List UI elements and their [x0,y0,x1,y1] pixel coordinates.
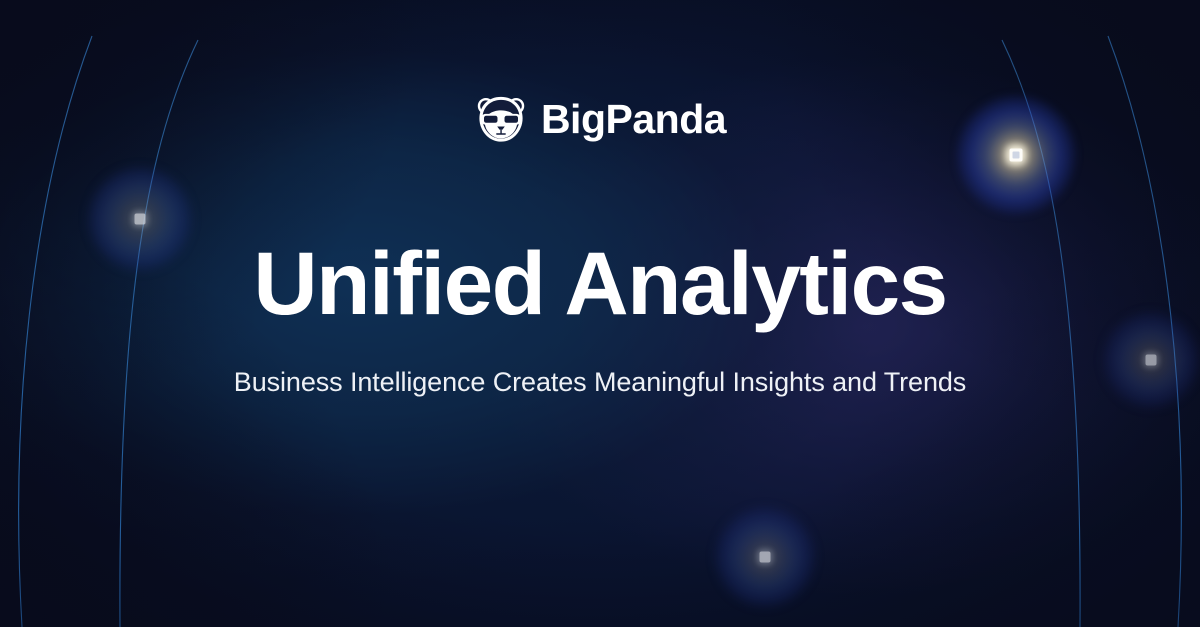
hero-banner: BigPanda Unified Analytics Business Inte… [0,0,1200,627]
brand-logo: BigPanda [474,92,726,146]
hero-content: BigPanda Unified Analytics Business Inte… [0,0,1200,627]
panda-head-icon [474,92,528,146]
brand-wordmark: BigPanda [541,99,726,140]
page-subtitle: Business Intelligence Creates Meaningful… [234,368,966,398]
page-title: Unified Analytics [253,239,946,328]
